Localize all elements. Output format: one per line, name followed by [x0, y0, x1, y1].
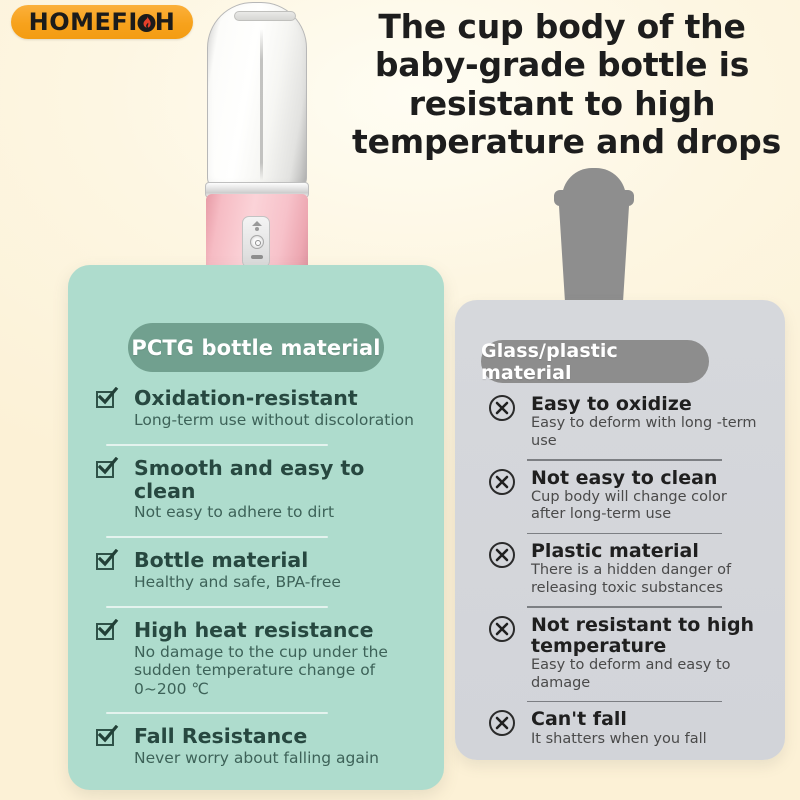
- drawback-title: Can't fall: [531, 709, 759, 730]
- led-indicator-icon: [255, 227, 259, 231]
- circle-x-icon: [489, 542, 515, 568]
- divider: [527, 533, 722, 535]
- divider: [106, 536, 328, 538]
- feature-title: Oxidation-resistant: [134, 387, 426, 410]
- brand-name-part1: HOMEFI: [29, 10, 138, 34]
- checkbox-checked-icon: [96, 727, 117, 747]
- list-item: Easy to oxidize Easy to deform with long…: [489, 394, 759, 453]
- feature-title: High heat resistance: [134, 619, 426, 642]
- feature-title: Bottle material: [134, 549, 426, 572]
- feature-desc: Never worry about falling again: [134, 749, 426, 768]
- blender-control-panel: [242, 216, 270, 268]
- infographic-page: HOMEFI H The cup body of the baby-grade …: [0, 0, 800, 800]
- list-item: Oxidation-resistant Long-term use withou…: [96, 387, 426, 435]
- checkbox-checked-icon: [96, 551, 117, 571]
- flame-icon: [137, 10, 156, 34]
- brand-name-part2: H: [155, 10, 176, 34]
- list-item: Not resistant to high temperature Easy t…: [489, 615, 759, 695]
- divider: [527, 606, 722, 608]
- drawback-desc: Easy to deform with long -term use: [531, 415, 759, 450]
- list-item: Plastic material There is a hidden dange…: [489, 541, 759, 600]
- circle-x-icon: [489, 469, 515, 495]
- page-title: The cup body of the baby-grade bottle is…: [352, 8, 772, 161]
- checkbox-checked-icon: [96, 621, 117, 641]
- drawback-title: Easy to oxidize: [531, 394, 759, 415]
- portable-blender-photo: [200, 0, 314, 290]
- glass-plastic-material-card: Glass/plastic material Easy to oxidize E…: [455, 300, 785, 760]
- blender-jar: [207, 2, 307, 188]
- drawback-title: Not easy to clean: [531, 468, 759, 489]
- circle-x-icon: [489, 616, 515, 642]
- blender-lid: [234, 11, 296, 21]
- headline-line-2: baby-grade bottle is: [352, 46, 772, 84]
- divider: [527, 701, 722, 703]
- list-item: Fall Resistance Never worry about fallin…: [96, 725, 426, 773]
- glass-plastic-material-badge-label: Glass/plastic material: [481, 340, 709, 384]
- feature-desc: No damage to the cup under the sudden te…: [134, 643, 426, 699]
- pctg-material-card: PCTG bottle material Oxidation-resistant…: [68, 265, 444, 790]
- list-item: Can't fall It shatters when you fall: [489, 709, 759, 751]
- list-item: Smooth and easy to clean Not easy to adh…: [96, 457, 426, 528]
- checkbox-checked-icon: [96, 389, 117, 409]
- drawback-title: Plastic material: [531, 541, 759, 562]
- list-item: High heat resistance No damage to the cu…: [96, 619, 426, 704]
- list-item: Bottle material Healthy and safe, BPA-fr…: [96, 549, 426, 597]
- battery-bar-icon: [251, 255, 263, 259]
- drawback-title: Not resistant to high temperature: [531, 615, 759, 658]
- drawback-desc: Easy to deform and easy to damage: [531, 657, 759, 692]
- divider: [106, 606, 328, 608]
- feature-desc: Long-term use without discoloration: [134, 411, 426, 430]
- pctg-material-badge: PCTG bottle material: [128, 323, 384, 372]
- triangle-icon: [252, 221, 262, 226]
- list-item: Not easy to clean Cup body will change c…: [489, 468, 759, 527]
- divider: [527, 459, 722, 461]
- blender-jar-seam: [260, 29, 263, 181]
- pctg-feature-list: Oxidation-resistant Long-term use withou…: [96, 387, 426, 773]
- brand-logo: HOMEFI H: [11, 5, 193, 39]
- checkbox-checked-icon: [96, 459, 117, 479]
- drawback-desc: It shatters when you fall: [531, 731, 759, 748]
- headline-line-3: resistant to high: [352, 85, 772, 123]
- power-button-icon: [250, 235, 264, 249]
- feature-desc: Healthy and safe, BPA-free: [134, 573, 426, 592]
- feature-title: Fall Resistance: [134, 725, 426, 748]
- glass-plastic-drawback-list: Easy to oxidize Easy to deform with long…: [489, 394, 759, 751]
- feature-desc: Not easy to adhere to dirt: [134, 503, 426, 522]
- circle-x-icon: [489, 395, 515, 421]
- circle-x-icon: [489, 710, 515, 736]
- drawback-desc: There is a hidden danger of releasing to…: [531, 562, 759, 597]
- headline-line-1: The cup body of the: [352, 8, 772, 46]
- headline-line-4: temperature and drops: [352, 123, 772, 161]
- brand-wordmark: HOMEFI H: [29, 10, 176, 34]
- divider: [106, 444, 328, 446]
- pctg-material-badge-label: PCTG bottle material: [131, 336, 380, 360]
- glass-plastic-material-badge: Glass/plastic material: [481, 340, 709, 383]
- feature-title: Smooth and easy to clean: [134, 457, 426, 503]
- drawback-desc: Cup body will change color after long-te…: [531, 489, 759, 524]
- divider: [106, 712, 328, 714]
